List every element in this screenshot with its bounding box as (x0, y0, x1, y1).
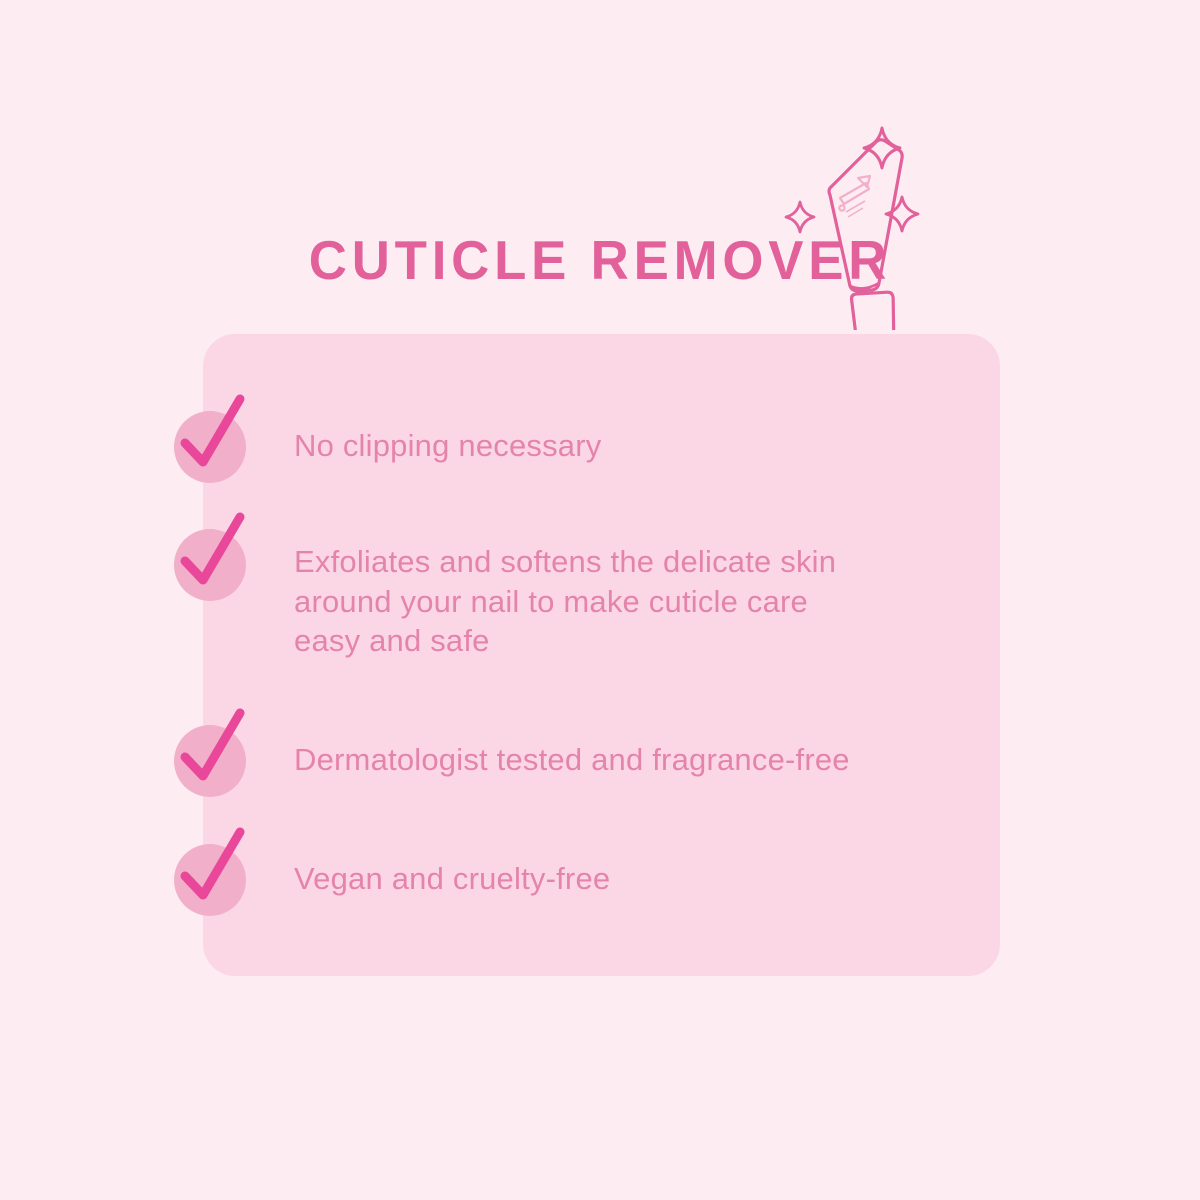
list-item: Dermatologist tested and fragrance-free (174, 725, 974, 797)
features-list: No clipping necessary Exfoliates and sof… (0, 334, 1200, 976)
check-icon (174, 844, 246, 916)
list-item-text: Exfoliates and softens the delicate skin… (294, 529, 974, 661)
check-mark-icon (172, 822, 268, 918)
list-item-line: easy and safe (294, 621, 974, 661)
check-icon (174, 529, 246, 601)
list-item-text: Vegan and cruelty-free (294, 844, 974, 899)
list-item: No clipping necessary (174, 411, 974, 483)
list-item-line: Dermatologist tested and fragrance-free (294, 740, 974, 780)
cuticle-remover-tube-illustration (766, 120, 966, 330)
product-benefits-poster: CUTICLE REMOVER No clipping necessary (0, 0, 1200, 1200)
list-item: Vegan and cruelty-free (174, 844, 974, 916)
tube-logo-mark (839, 176, 870, 217)
list-item: Exfoliates and softens the delicate skin… (174, 529, 974, 661)
list-item-text: Dermatologist tested and fragrance-free (294, 725, 974, 780)
sparkle-icon-small (786, 202, 814, 232)
check-icon (174, 411, 246, 483)
check-mark-icon (172, 703, 268, 799)
check-icon (174, 725, 246, 797)
page-title: CUTICLE REMOVER (24, 232, 1176, 288)
list-item-line: Vegan and cruelty-free (294, 859, 974, 899)
list-item-line: Exfoliates and softens the delicate skin (294, 542, 974, 582)
check-mark-icon (172, 389, 268, 485)
list-item-text: No clipping necessary (294, 411, 974, 466)
list-item-line: around your nail to make cuticle care (294, 582, 974, 622)
list-item-line: No clipping necessary (294, 426, 974, 466)
check-mark-icon (172, 507, 268, 603)
header: CUTICLE REMOVER (0, 120, 1200, 330)
